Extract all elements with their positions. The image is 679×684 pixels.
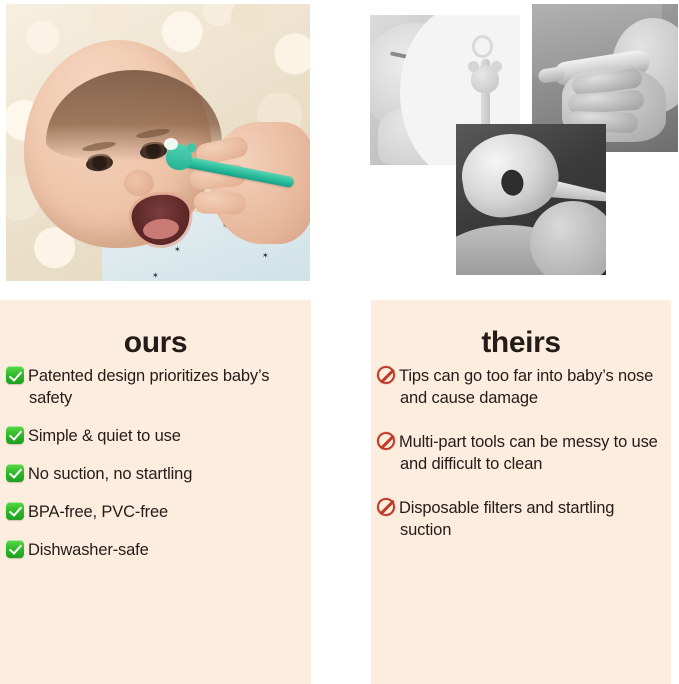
list-item: Disposable filters and startling suction	[371, 498, 671, 564]
baby-nose	[124, 170, 154, 196]
prohibit-icon	[377, 498, 395, 516]
star-print: ✶	[174, 246, 181, 254]
check-icon	[6, 366, 24, 384]
product-ear	[491, 61, 502, 72]
list-item-label: No suction, no startling	[28, 465, 192, 483]
list-item: Tips can go too far into baby’s nose and…	[371, 366, 671, 432]
list-item: No suction, no startling	[0, 464, 311, 502]
drawback-list: Tips can go too far into baby’s nose and…	[371, 366, 671, 564]
aspirator-nozzle	[538, 66, 566, 84]
product-head	[471, 65, 499, 93]
bulb-opening	[499, 168, 525, 197]
star-print: ✶	[262, 252, 269, 260]
list-item: Multi-part tools can be messy to use and…	[371, 432, 671, 498]
star-print: ✶	[152, 272, 159, 280]
check-icon	[6, 426, 24, 444]
list-item: Dishwasher-safe	[0, 540, 311, 578]
panel-title-ours: ours	[0, 300, 311, 366]
list-item-label: Dishwasher-safe	[28, 541, 149, 559]
competitor-photo-collage	[368, 0, 679, 292]
baby-tongue	[142, 217, 180, 241]
nasal-tool-tip	[164, 138, 178, 150]
list-item-label: Patented design prioritizes baby’s safet…	[28, 367, 269, 407]
baby-with-nasal-tool-photo: ✶ ✶ ✶ ✶ ✶ ✶	[6, 4, 310, 281]
finger	[194, 191, 247, 215]
product-ear	[468, 61, 479, 72]
panel-title-theirs: theirs	[371, 300, 671, 366]
list-item-label: Disposable filters and startling suction	[399, 499, 614, 539]
adult-hand	[210, 122, 310, 244]
check-icon	[6, 540, 24, 558]
list-item-label: Multi-part tools can be messy to use and…	[399, 433, 658, 473]
imagery-row: ✶ ✶ ✶ ✶ ✶ ✶	[0, 0, 679, 292]
bulb-syringe-photo	[456, 124, 606, 275]
list-item-label: Tips can go too far into baby’s nose and…	[399, 367, 653, 407]
list-item-label: BPA-free, PVC-free	[28, 503, 168, 521]
check-icon	[6, 502, 24, 520]
comparison-panel-ours: ours Patented design prioritizes baby’s …	[0, 300, 311, 684]
list-item: Simple & quiet to use	[0, 426, 311, 464]
check-icon	[6, 464, 24, 482]
comparison-panel-theirs: theirs Tips can go too far into baby’s n…	[371, 300, 671, 684]
prohibit-icon	[377, 432, 395, 450]
list-item-label: Simple & quiet to use	[28, 427, 181, 445]
benefit-list: Patented design prioritizes baby’s safet…	[0, 366, 311, 578]
list-item: BPA-free, PVC-free	[0, 502, 311, 540]
list-item: Patented design prioritizes baby’s safet…	[0, 366, 311, 426]
prohibit-icon	[377, 366, 395, 384]
product-loop-tip	[472, 35, 493, 58]
